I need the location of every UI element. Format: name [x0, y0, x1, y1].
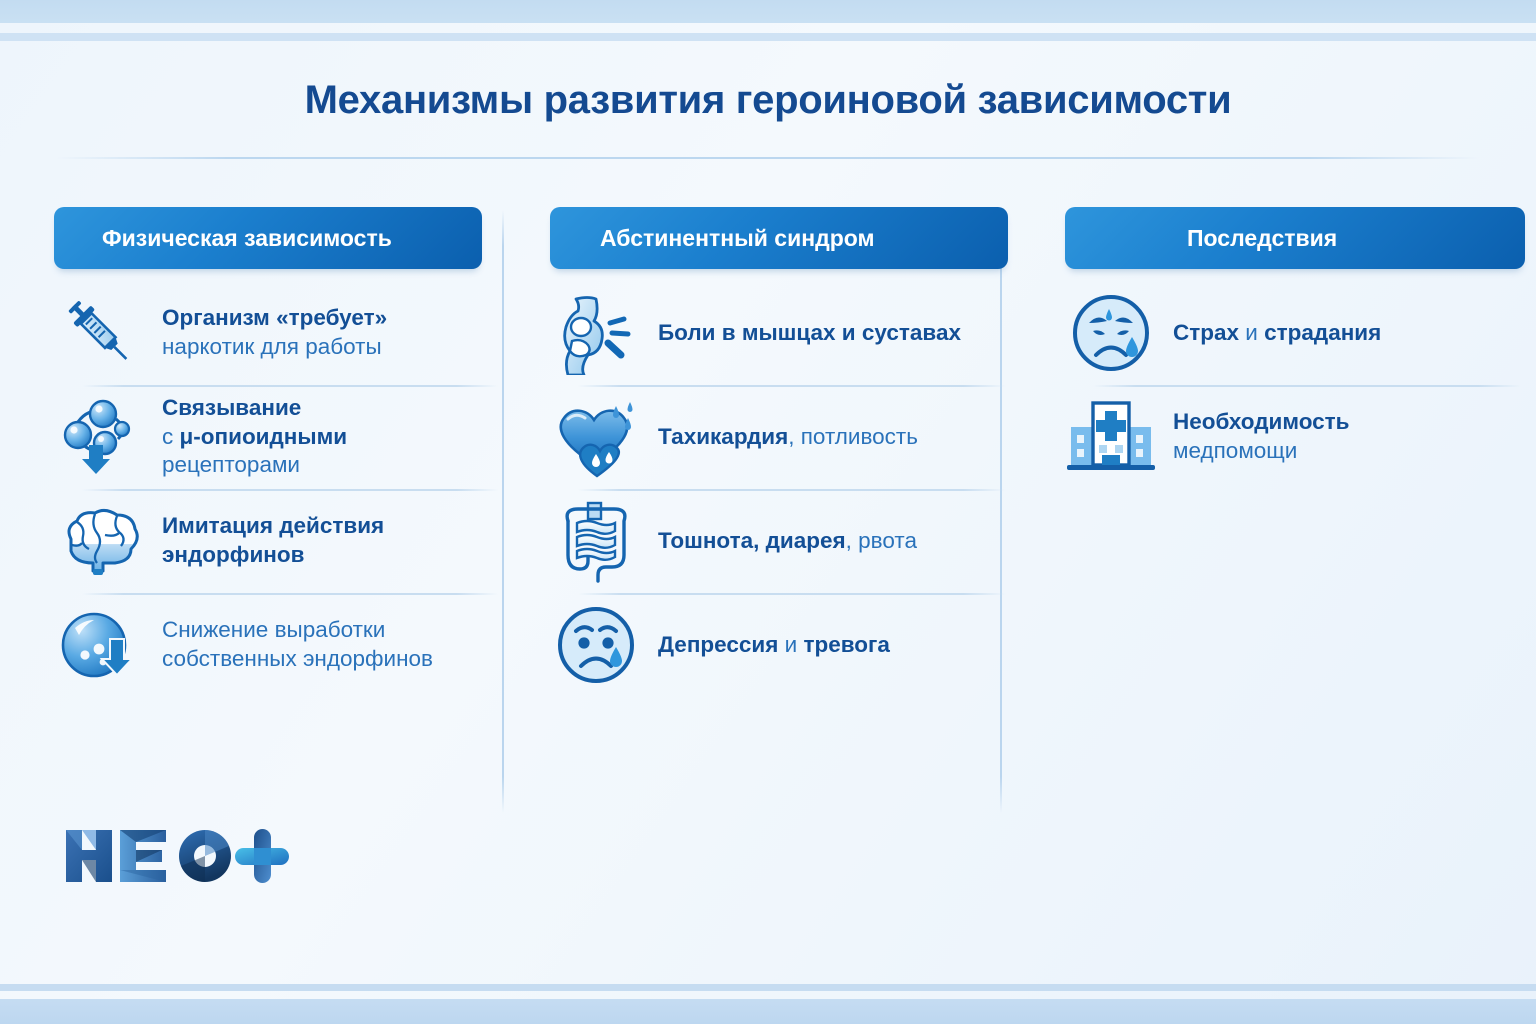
- title-divider-rule: [56, 157, 1480, 159]
- text-line: наркотик для работы: [162, 334, 382, 359]
- bottom-accent-stripe: [0, 984, 1536, 991]
- text-line: и: [778, 632, 803, 657]
- knee-joint-pain-icon: [550, 287, 642, 379]
- column-header-label: Физическая зависимость: [102, 225, 392, 252]
- list-item[interactable]: Страх и страдания: [1065, 281, 1535, 385]
- brain-icon: [54, 495, 146, 587]
- column-header-withdrawal-syndrome[interactable]: Абстинентный синдром: [550, 207, 1008, 269]
- column-header-consequences[interactable]: Последствия: [1065, 207, 1525, 269]
- column-2-rows: Боли в мышцах и суставах: [550, 281, 1020, 697]
- intestines-icon: [550, 495, 642, 587]
- column-physical-dependence: Физическая зависимость: [54, 207, 502, 697]
- text-line: эндорфинов: [162, 542, 304, 567]
- list-item-text: Тахикардия, потливость: [658, 423, 918, 452]
- text-line: страдания: [1264, 320, 1381, 345]
- text-line: Имитация действия: [162, 513, 384, 538]
- list-item[interactable]: Организм «требует» наркотик для работы: [54, 281, 502, 385]
- text-line: Депрессия: [658, 632, 778, 657]
- cell-decrease-icon: [54, 599, 146, 691]
- list-item-text: Страх и страдания: [1173, 319, 1381, 348]
- column-3-rows: Страх и страдания: [1065, 281, 1535, 489]
- text-line: Организм «требует»: [162, 305, 387, 330]
- page-title: Механизмы развития героиновой зависимост…: [0, 78, 1536, 123]
- sad-face-tear-icon: [550, 599, 642, 691]
- text-line: , потливость: [788, 424, 918, 449]
- top-accent-stripe: [0, 33, 1536, 41]
- heart-sweat-icon: [550, 391, 642, 483]
- list-item[interactable]: Тахикардия, потливость: [550, 385, 1020, 489]
- text-line: Снижение выработки: [162, 617, 385, 642]
- hospital-icon: [1065, 391, 1157, 483]
- list-item-text: Организм «требует» наркотик для работы: [162, 304, 387, 362]
- list-item[interactable]: Имитация действия эндорфинов: [54, 489, 502, 593]
- text-line: Страх: [1173, 320, 1239, 345]
- worried-face-tear-icon: [1065, 287, 1157, 379]
- bottom-decorative-band: [0, 999, 1536, 1024]
- columns-container: Физическая зависимость: [0, 207, 1536, 697]
- list-item[interactable]: Необходимость медпомощи: [1065, 385, 1535, 489]
- brand-logo[interactable]: [62, 824, 292, 886]
- column-withdrawal-syndrome: Абстинентный синдром: [550, 207, 1020, 697]
- column-header-physical-dependence[interactable]: Физическая зависимость: [54, 207, 482, 269]
- text-line: Необходимость: [1173, 409, 1350, 434]
- column-header-label: Последствия: [1187, 225, 1337, 252]
- text-line: собственных эндорфинов: [162, 646, 433, 671]
- list-item[interactable]: Тошнота, диарея, рвота: [550, 489, 1020, 593]
- text-line: Боли в мышцах и суставах: [658, 320, 961, 345]
- list-item[interactable]: Боли в мышцах и суставах: [550, 281, 1020, 385]
- column-consequences: Последствия Страх: [1065, 207, 1535, 489]
- text-line: , рвота: [846, 528, 917, 553]
- syringe-icon: [54, 287, 146, 379]
- list-item-text: Тошнота, диарея, рвота: [658, 527, 917, 556]
- molecule-receptor-icon: [54, 391, 146, 483]
- list-item[interactable]: Снижение выработки собственных эндорфино…: [54, 593, 502, 697]
- list-item[interactable]: Депрессия и тревога: [550, 593, 1020, 697]
- top-decorative-band: [0, 0, 1536, 23]
- text-line: Тахикардия: [658, 424, 788, 449]
- text-line: μ-опиоидными: [180, 424, 348, 449]
- text-line: тревога: [803, 632, 889, 657]
- text-line: Тошнота, диарея: [658, 528, 846, 553]
- list-item-text: Депрессия и тревога: [658, 631, 890, 660]
- list-item[interactable]: Связывание с μ-опиоидными рецепторами: [54, 385, 502, 489]
- list-item-text: Необходимость медпомощи: [1173, 408, 1350, 466]
- column-header-label: Абстинентный синдром: [600, 225, 875, 252]
- list-item-text: Имитация действия эндорфинов: [162, 512, 384, 570]
- text-line: с: [162, 424, 180, 449]
- list-item-text: Связывание с μ-опиоидными рецепторами: [162, 394, 347, 480]
- list-item-text: Боли в мышцах и суставах: [658, 319, 961, 348]
- text-line: Связывание: [162, 395, 301, 420]
- text-line: рецепторами: [162, 452, 300, 477]
- text-line: медпомощи: [1173, 438, 1297, 463]
- text-line: и: [1239, 320, 1264, 345]
- column-1-rows: Организм «требует» наркотик для работы: [54, 281, 502, 697]
- list-item-text: Снижение выработки собственных эндорфино…: [162, 616, 433, 674]
